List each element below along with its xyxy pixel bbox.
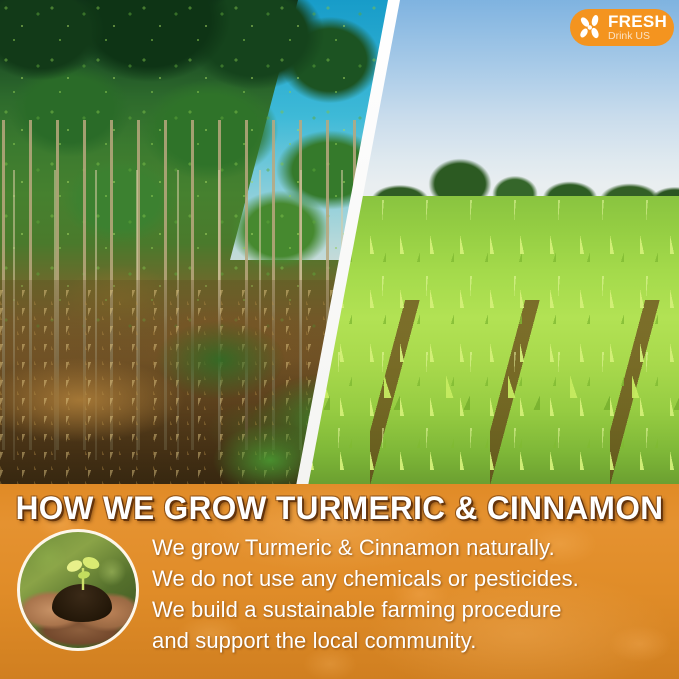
seedling-icon [66,550,100,590]
body-line: We grow Turmeric & Cinnamon naturally. [152,532,672,563]
photo-collage [0,0,679,486]
leaf-flower-icon [576,13,606,43]
body-line: We do not use any chemicals or pesticide… [152,563,672,594]
brand-tagline: Drink US [608,31,667,42]
info-banner: HOW WE GROW TURMERIC & CINNAMON We grow … [0,484,679,679]
brand-name: FRESH [608,13,667,30]
body-line: We build a sustainable farming procedure [152,594,672,625]
banner-headline: HOW WE GROW TURMERIC & CINNAMON [5,490,674,527]
body-line: and support the local community. [152,625,672,656]
brand-logo-text: FRESH Drink US [608,13,667,42]
banner-body-text: We grow Turmeric & Cinnamon naturally. W… [152,532,672,656]
hands-holding-seedling-image [17,529,139,651]
product-infographic: FRESH Drink US HOW WE GROW TURMERIC & CI… [0,0,679,679]
brand-logo[interactable]: FRESH Drink US [570,9,674,46]
